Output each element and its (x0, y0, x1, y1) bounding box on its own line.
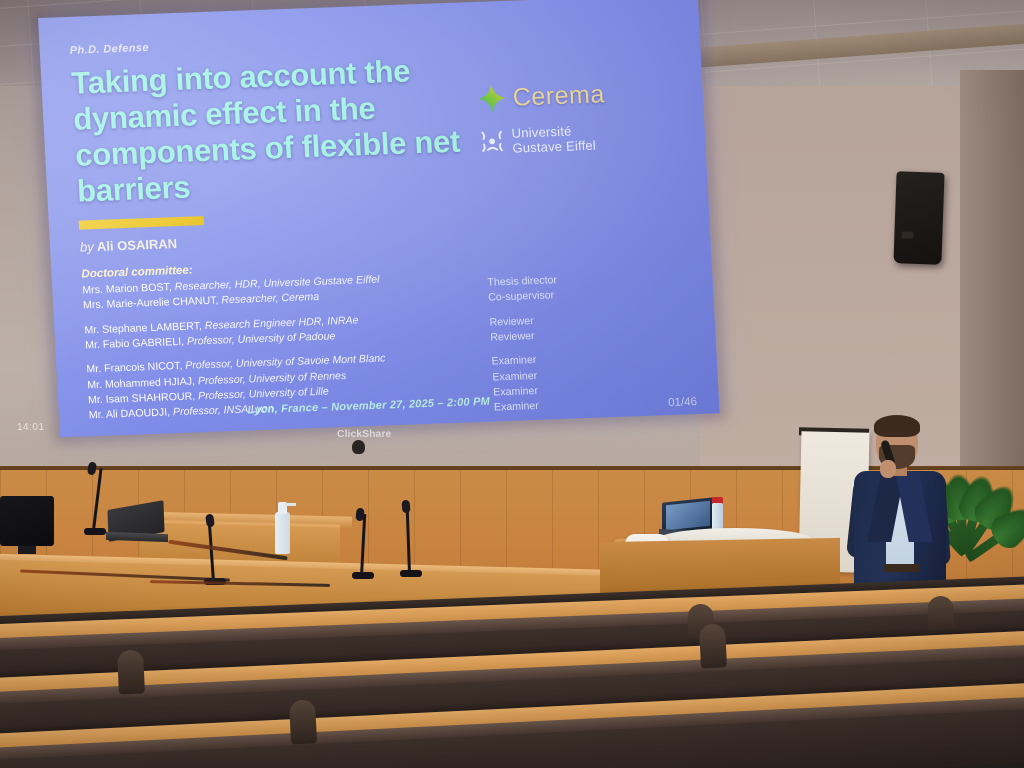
cerema-wordmark: Cerema (512, 80, 605, 112)
microphone-head-4 (401, 500, 410, 514)
bench-divider-1a (289, 699, 317, 744)
desktop-monitor (0, 496, 54, 546)
committee-member-name: Mr. Fabio GABRIELI, (85, 336, 187, 352)
projector-clock: 14:01 (17, 422, 45, 433)
committee-member-affiliation: Researcher, Cerema (221, 291, 319, 307)
slide-kicker: Ph.D. Defense (69, 23, 673, 57)
slide-title: Taking into account the dynamic effect i… (71, 49, 548, 210)
committee-member-name: Mr. Isam SHAHROUR, (88, 390, 199, 406)
uge-mark-icon (478, 128, 505, 155)
slide-number: 01/46 (668, 396, 697, 409)
presenter-hand (880, 460, 896, 478)
hand-sanitizer-bottle (275, 512, 290, 554)
byline-author: Ali OSAIRAN (97, 236, 178, 254)
clickshare-button[interactable] (352, 440, 365, 454)
cerema-logo: Cerema (476, 77, 667, 114)
committee-member-affiliation: Research Engineer HDR, INRAe (205, 314, 359, 332)
cerema-star-icon (476, 83, 508, 114)
uge-line-1: Université (511, 124, 572, 141)
byline-prefix: by (80, 239, 95, 254)
uge-line-2: Gustave Eiffel (512, 138, 596, 156)
microphone-base-1 (84, 528, 106, 535)
microphone-base-3 (352, 572, 374, 579)
slide-logos: Cerema (476, 77, 670, 158)
committee-member-affiliation: Professor, University of Lille (198, 386, 329, 403)
hand-sanitizer-nozzle (285, 503, 296, 506)
committee-member-name: Mrs. Marie-Aurelie CHANUT, (83, 295, 222, 312)
uge-wordmark: Université Gustave Eiffel (511, 123, 596, 157)
committee-member-name: Mr. Mohammed HJIAJ, (87, 375, 198, 391)
presenter-hair (874, 415, 920, 437)
presenter-belt (884, 564, 920, 572)
committee-member-name: Mrs. Marion BOST, (82, 281, 175, 296)
committee-member-name: Mr. Francois NICOT, (86, 360, 185, 376)
title-underline-rule (79, 216, 204, 230)
committee-member-name: Mr. Stephane LAMBERT, (84, 320, 205, 336)
microphone-base-4 (400, 570, 422, 577)
universite-gustave-eiffel-logo: Université Gustave Eiffel (478, 120, 670, 158)
projected-slide: Ph.D. Defense Taking into account the dy… (38, 0, 720, 437)
role-group: Thesis directorCo-supervisor (487, 269, 669, 306)
bench-divider-2b (699, 623, 727, 668)
microphone-head-2 (205, 514, 215, 528)
slide-content: Ph.D. Defense Taking into account the dy… (38, 0, 720, 437)
wall-speaker (893, 171, 944, 265)
bench-divider-2a (117, 649, 145, 694)
role-group: ReviewerReviewer (489, 309, 671, 346)
lecture-hall-scene: Ph.D. Defense Taking into account the dy… (0, 0, 1024, 768)
monitor-stand (18, 546, 36, 554)
table-laptop-screen (666, 501, 710, 531)
projection-screen: Ph.D. Defense Taking into account the dy… (38, 0, 720, 437)
clickshare-label: ClickShare (337, 428, 391, 440)
